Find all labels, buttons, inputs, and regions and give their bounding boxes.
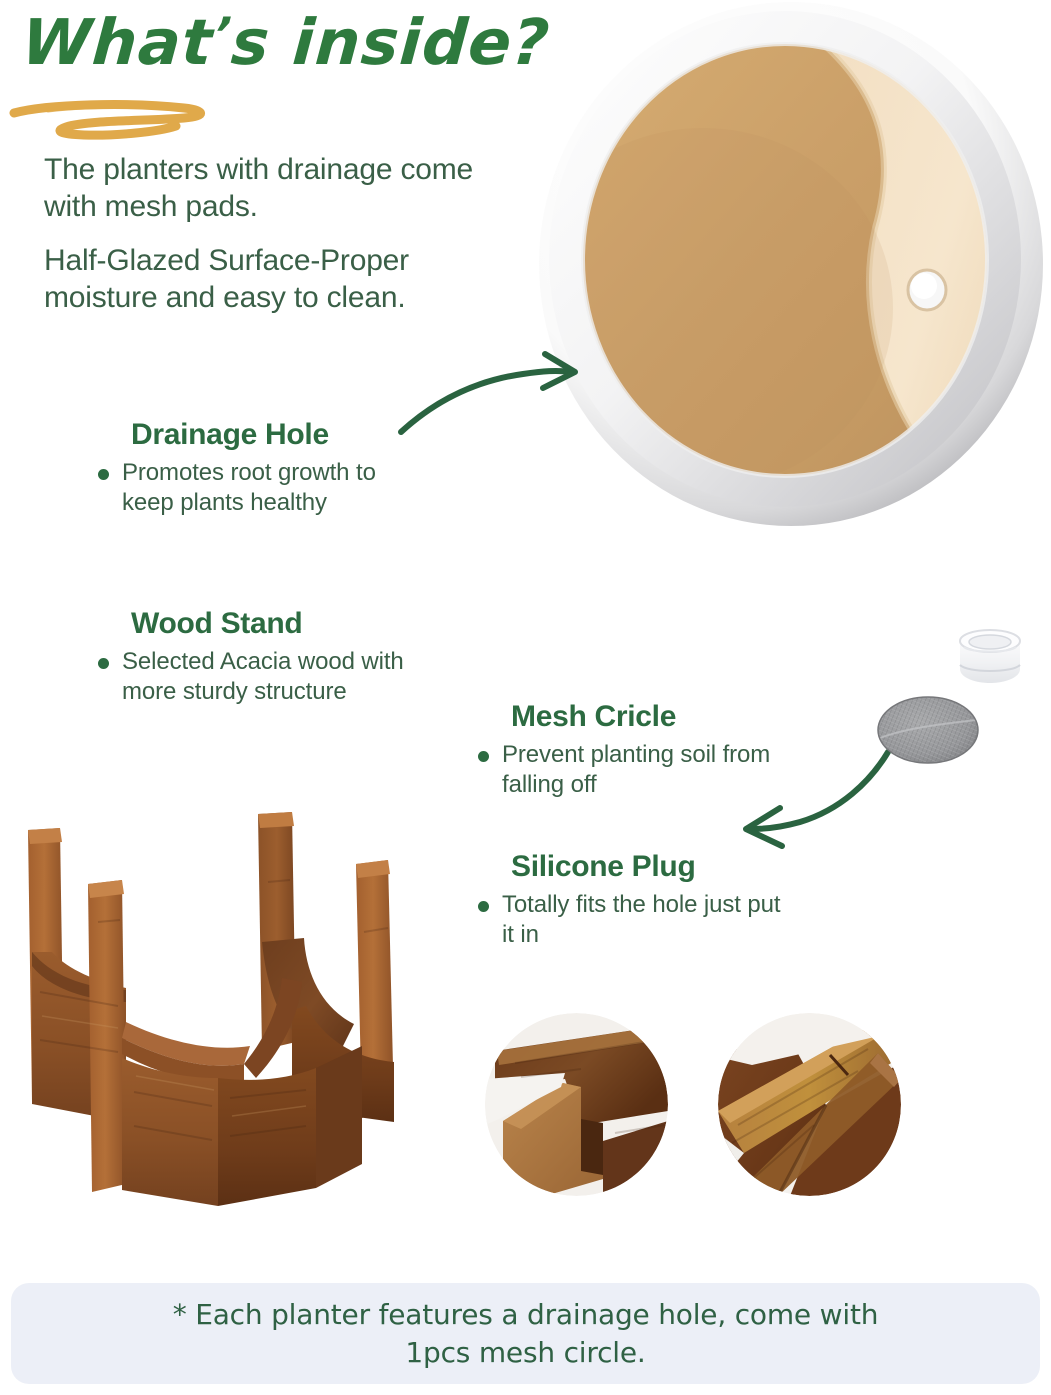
feature-text-drainage-hole: Promotes root growth to keep plants heal… [122,458,428,518]
feature-text-wood-stand: Selected Acacia wood with more sturdy st… [122,647,448,707]
feature-title-drainage-hole: Drainage Hole [131,418,428,452]
feature-text-silicone-plug: Totally fits the hole just put it in [502,890,788,950]
feature-bullet-row: Selected Acacia wood with more sturdy st… [98,647,448,707]
feature-wood-stand: Wood Stand Selected Acacia wood with mor… [98,607,448,707]
detail-photo-slot-joint [485,1013,668,1196]
intro-paragraph-2: Half-Glazed Surface-Proper moisture and … [44,243,514,316]
bullet-icon [478,751,489,762]
bullet-icon [478,901,489,912]
intro-paragraph-1: The planters with drainage come with mes… [44,152,514,225]
title-underline-brushstroke [8,96,224,142]
footer-note-box: * Each planter features a drainage hole,… [11,1283,1040,1384]
feature-text-mesh-circle: Prevent planting soil from falling off [502,740,778,800]
wood-stand-photo [6,792,442,1222]
feature-mesh-circle: Mesh Cricle Prevent planting soil from f… [478,700,778,800]
feature-title-mesh-circle: Mesh Cricle [511,700,778,734]
feature-drainage-hole: Drainage Hole Promotes root growth to ke… [98,418,428,518]
feature-bullet-row: Promotes root growth to keep plants heal… [98,458,428,518]
footer-note-line-2: 1pcs mesh circle. [173,1334,879,1372]
detail-photo-cross-joint [718,1013,901,1196]
bullet-icon [98,469,109,480]
infographic-page: What’s inside? The planters with drainag… [0,0,1051,1395]
page-title-part-1: What [19,6,215,79]
feature-title-silicone-plug: Silicone Plug [511,850,788,884]
feature-bullet-row: Prevent planting soil from falling off [478,740,778,800]
silicone-plug-photo [950,625,1030,687]
feature-silicone-plug: Silicone Plug Totally fits the hole just… [478,850,788,950]
feature-bullet-row: Totally fits the hole just put it in [478,890,788,950]
feature-title-wood-stand: Wood Stand [131,607,448,641]
page-title: What’s inside? [19,6,552,79]
footer-note-text: * Each planter features a drainage hole,… [173,1296,879,1372]
mesh-circle-photo [876,694,980,766]
footer-note-line-1: * Each planter features a drainage hole,… [173,1296,879,1334]
bullet-icon [98,658,109,669]
planter-photo [523,0,1051,548]
page-title-part-2: s inside? [229,6,552,79]
